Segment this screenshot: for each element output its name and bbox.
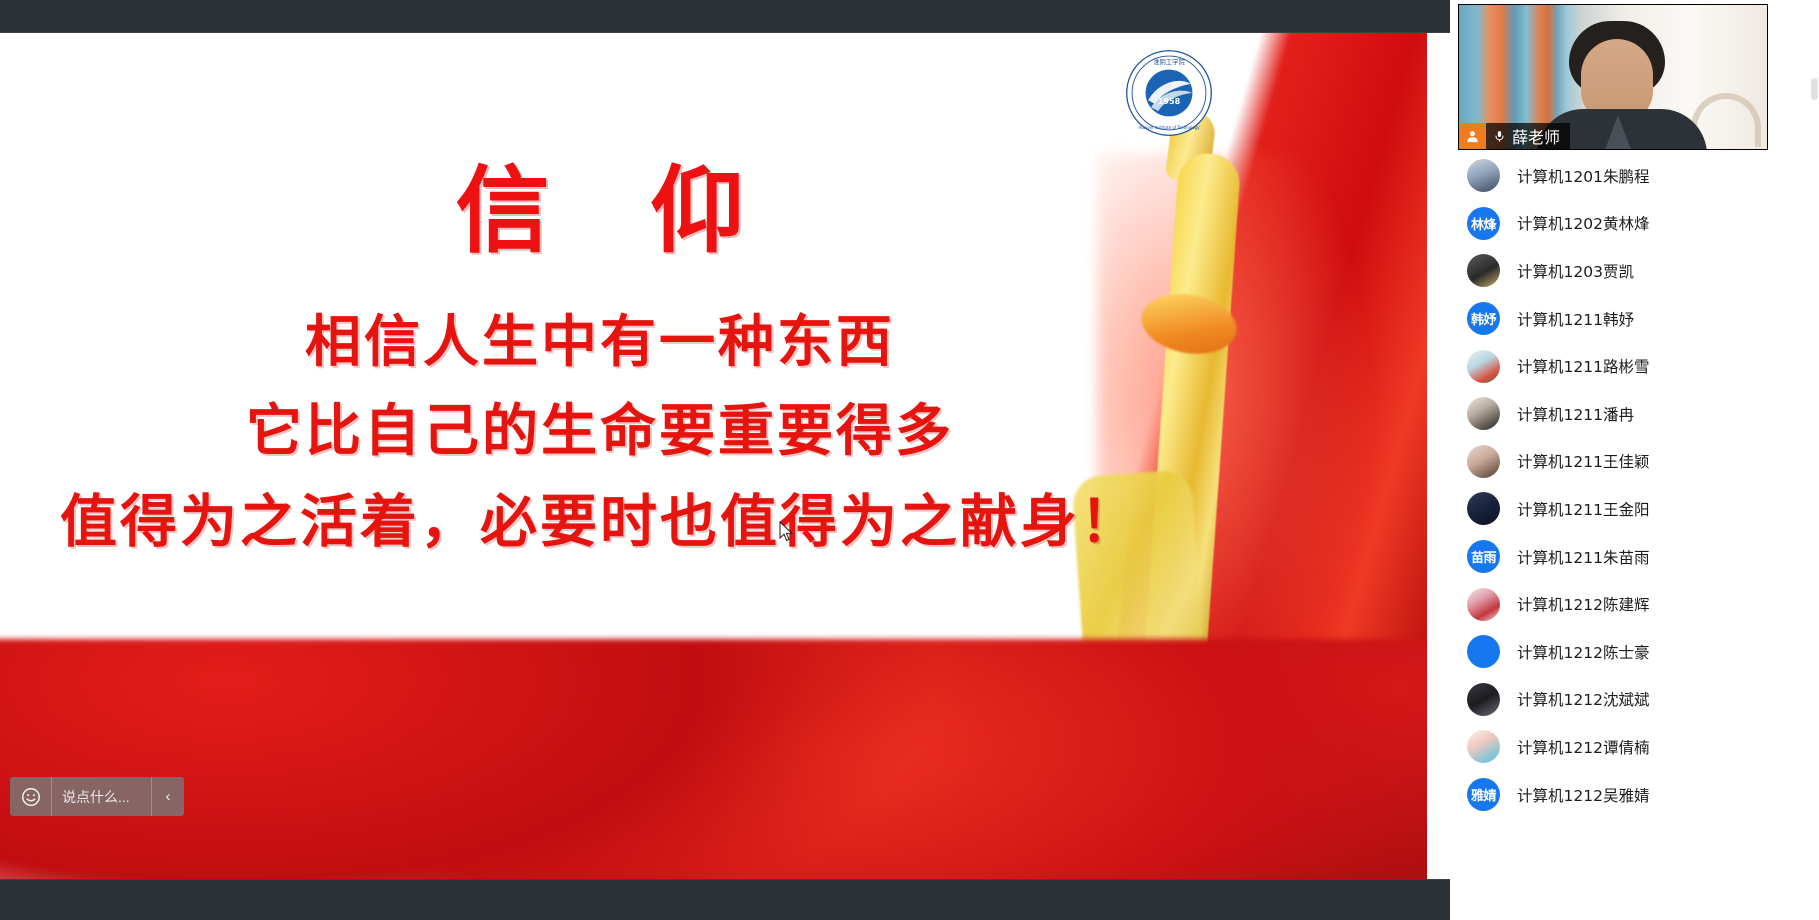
speaker-name: 薛老师 <box>1512 124 1560 148</box>
participant-name: 计算机1211朱苗雨 <box>1517 546 1649 568</box>
participant-name: 计算机1212吴雅婧 <box>1517 784 1649 806</box>
participant-row[interactable]: 计算机1211王金阳 <box>1450 485 1819 533</box>
flag-bottom-wave <box>0 639 1427 879</box>
chat-input-placeholder[interactable]: 说点什么... <box>52 777 152 816</box>
slide-line-3: 值得为之活着，必要时也值得为之献身！ <box>60 477 1140 568</box>
microphone-icon <box>1489 129 1509 144</box>
participant-row[interactable]: 苗雨计算机1211朱苗雨 <box>1450 533 1819 581</box>
stage-right-gutter <box>1427 33 1450 879</box>
avatar <box>1467 350 1500 383</box>
participant-name: 计算机1212谭倩楠 <box>1517 736 1649 758</box>
presentation-slide: 1958 淮阴工学院 Huaiyin Institute of Technolo… <box>0 33 1427 879</box>
speaker-name-bar: 薛老师 <box>1459 123 1570 149</box>
meeting-screen-share-window: 1958 淮阴工学院 Huaiyin Institute of Technolo… <box>0 0 1819 920</box>
participant-name: 计算机1201朱鹏程 <box>1517 165 1649 187</box>
mouse-cursor <box>779 521 793 542</box>
shared-screen-stage: 1958 淮阴工学院 Huaiyin Institute of Technolo… <box>0 0 1450 920</box>
avatar <box>1467 254 1500 287</box>
participant-row[interactable]: 计算机1203贾凯 <box>1450 247 1819 295</box>
participant-row[interactable]: 计算机1212陈建辉 <box>1450 580 1819 628</box>
participant-name: 计算机1211王佳颖 <box>1517 450 1649 472</box>
participants-list[interactable]: 计算机1201朱鹏程林烽计算机1202黄林烽计算机1203贾凯韩妤计算机1211… <box>1450 152 1819 920</box>
smiley-face-icon[interactable] <box>10 777 52 816</box>
participant-name: 计算机1203贾凯 <box>1517 260 1634 282</box>
avatar: 苗雨 <box>1467 540 1500 573</box>
chevron-left-icon[interactable]: ‹ <box>152 777 184 816</box>
avatar <box>1467 635 1500 668</box>
person-icon <box>1459 123 1486 149</box>
participant-row[interactable]: 计算机1212沈斌斌 <box>1450 676 1819 724</box>
avatar <box>1467 730 1500 763</box>
participant-name: 计算机1211王金阳 <box>1517 498 1649 520</box>
avatar <box>1467 492 1500 525</box>
participant-row[interactable]: 计算机1211潘冉 <box>1450 390 1819 438</box>
participant-name: 计算机1212陈建辉 <box>1517 593 1649 615</box>
participant-row[interactable]: 计算机1211路彬雪 <box>1450 342 1819 390</box>
avatar: 雅婧 <box>1467 778 1500 811</box>
stage-bottom-bar <box>0 879 1450 920</box>
avatar <box>1467 588 1500 621</box>
participant-name: 计算机1212陈士豪 <box>1517 641 1649 663</box>
avatar <box>1467 397 1500 430</box>
participant-name: 计算机1212沈斌斌 <box>1517 688 1649 710</box>
slide-title: 信 仰 <box>422 163 779 262</box>
participant-name: 计算机1202黄林烽 <box>1517 212 1649 234</box>
chat-input-bar[interactable]: 说点什么... ‹ <box>10 777 184 816</box>
stage-top-bar <box>0 0 1450 33</box>
logo-year: 1958 <box>1158 96 1181 106</box>
avatar: 林烽 <box>1467 207 1500 240</box>
avatar <box>1467 445 1500 478</box>
participant-row[interactable]: 计算机1201朱鹏程 <box>1450 152 1819 200</box>
university-logo-icon: 1958 淮阴工学院 Huaiyin Institute of Technolo… <box>1124 48 1214 138</box>
slide-line-1: 相信人生中有一种东西 <box>305 298 895 388</box>
avatar <box>1467 159 1500 192</box>
participant-row[interactable]: 雅婧计算机1212吴雅婧 <box>1450 771 1819 819</box>
logo-name-cn: 淮阴工学院 <box>1153 57 1185 66</box>
avatar: 韩妤 <box>1467 302 1500 335</box>
participants-panel: 薛老师 计算机1201朱鹏程林烽计算机1202黄林烽计算机1203贾凯韩妤计算机… <box>1450 0 1819 920</box>
participant-name: 计算机1211韩妤 <box>1517 308 1634 330</box>
participant-row[interactable]: 林烽计算机1202黄林烽 <box>1450 200 1819 248</box>
monument-ring-icon <box>1137 287 1242 361</box>
participant-name: 计算机1211潘冉 <box>1517 403 1634 425</box>
logo-name-en: Huaiyin Institute of Technology <box>1138 125 1200 130</box>
speaker-video-tile[interactable]: 薛老师 <box>1458 4 1768 150</box>
participant-row[interactable]: 韩妤计算机1211韩妤 <box>1450 295 1819 343</box>
participant-name: 计算机1211路彬雪 <box>1517 355 1649 377</box>
panel-scrollbar[interactable] <box>1811 78 1818 100</box>
avatar <box>1467 683 1500 716</box>
participant-row[interactable]: 计算机1211王佳颖 <box>1450 438 1819 486</box>
slide-line-2: 它比自己的生命要重要得多 <box>246 387 954 477</box>
golden-monument-icon <box>1141 152 1242 715</box>
participant-row[interactable]: 计算机1212谭倩楠 <box>1450 723 1819 771</box>
participant-row[interactable]: 计算机1212陈士豪 <box>1450 628 1819 676</box>
